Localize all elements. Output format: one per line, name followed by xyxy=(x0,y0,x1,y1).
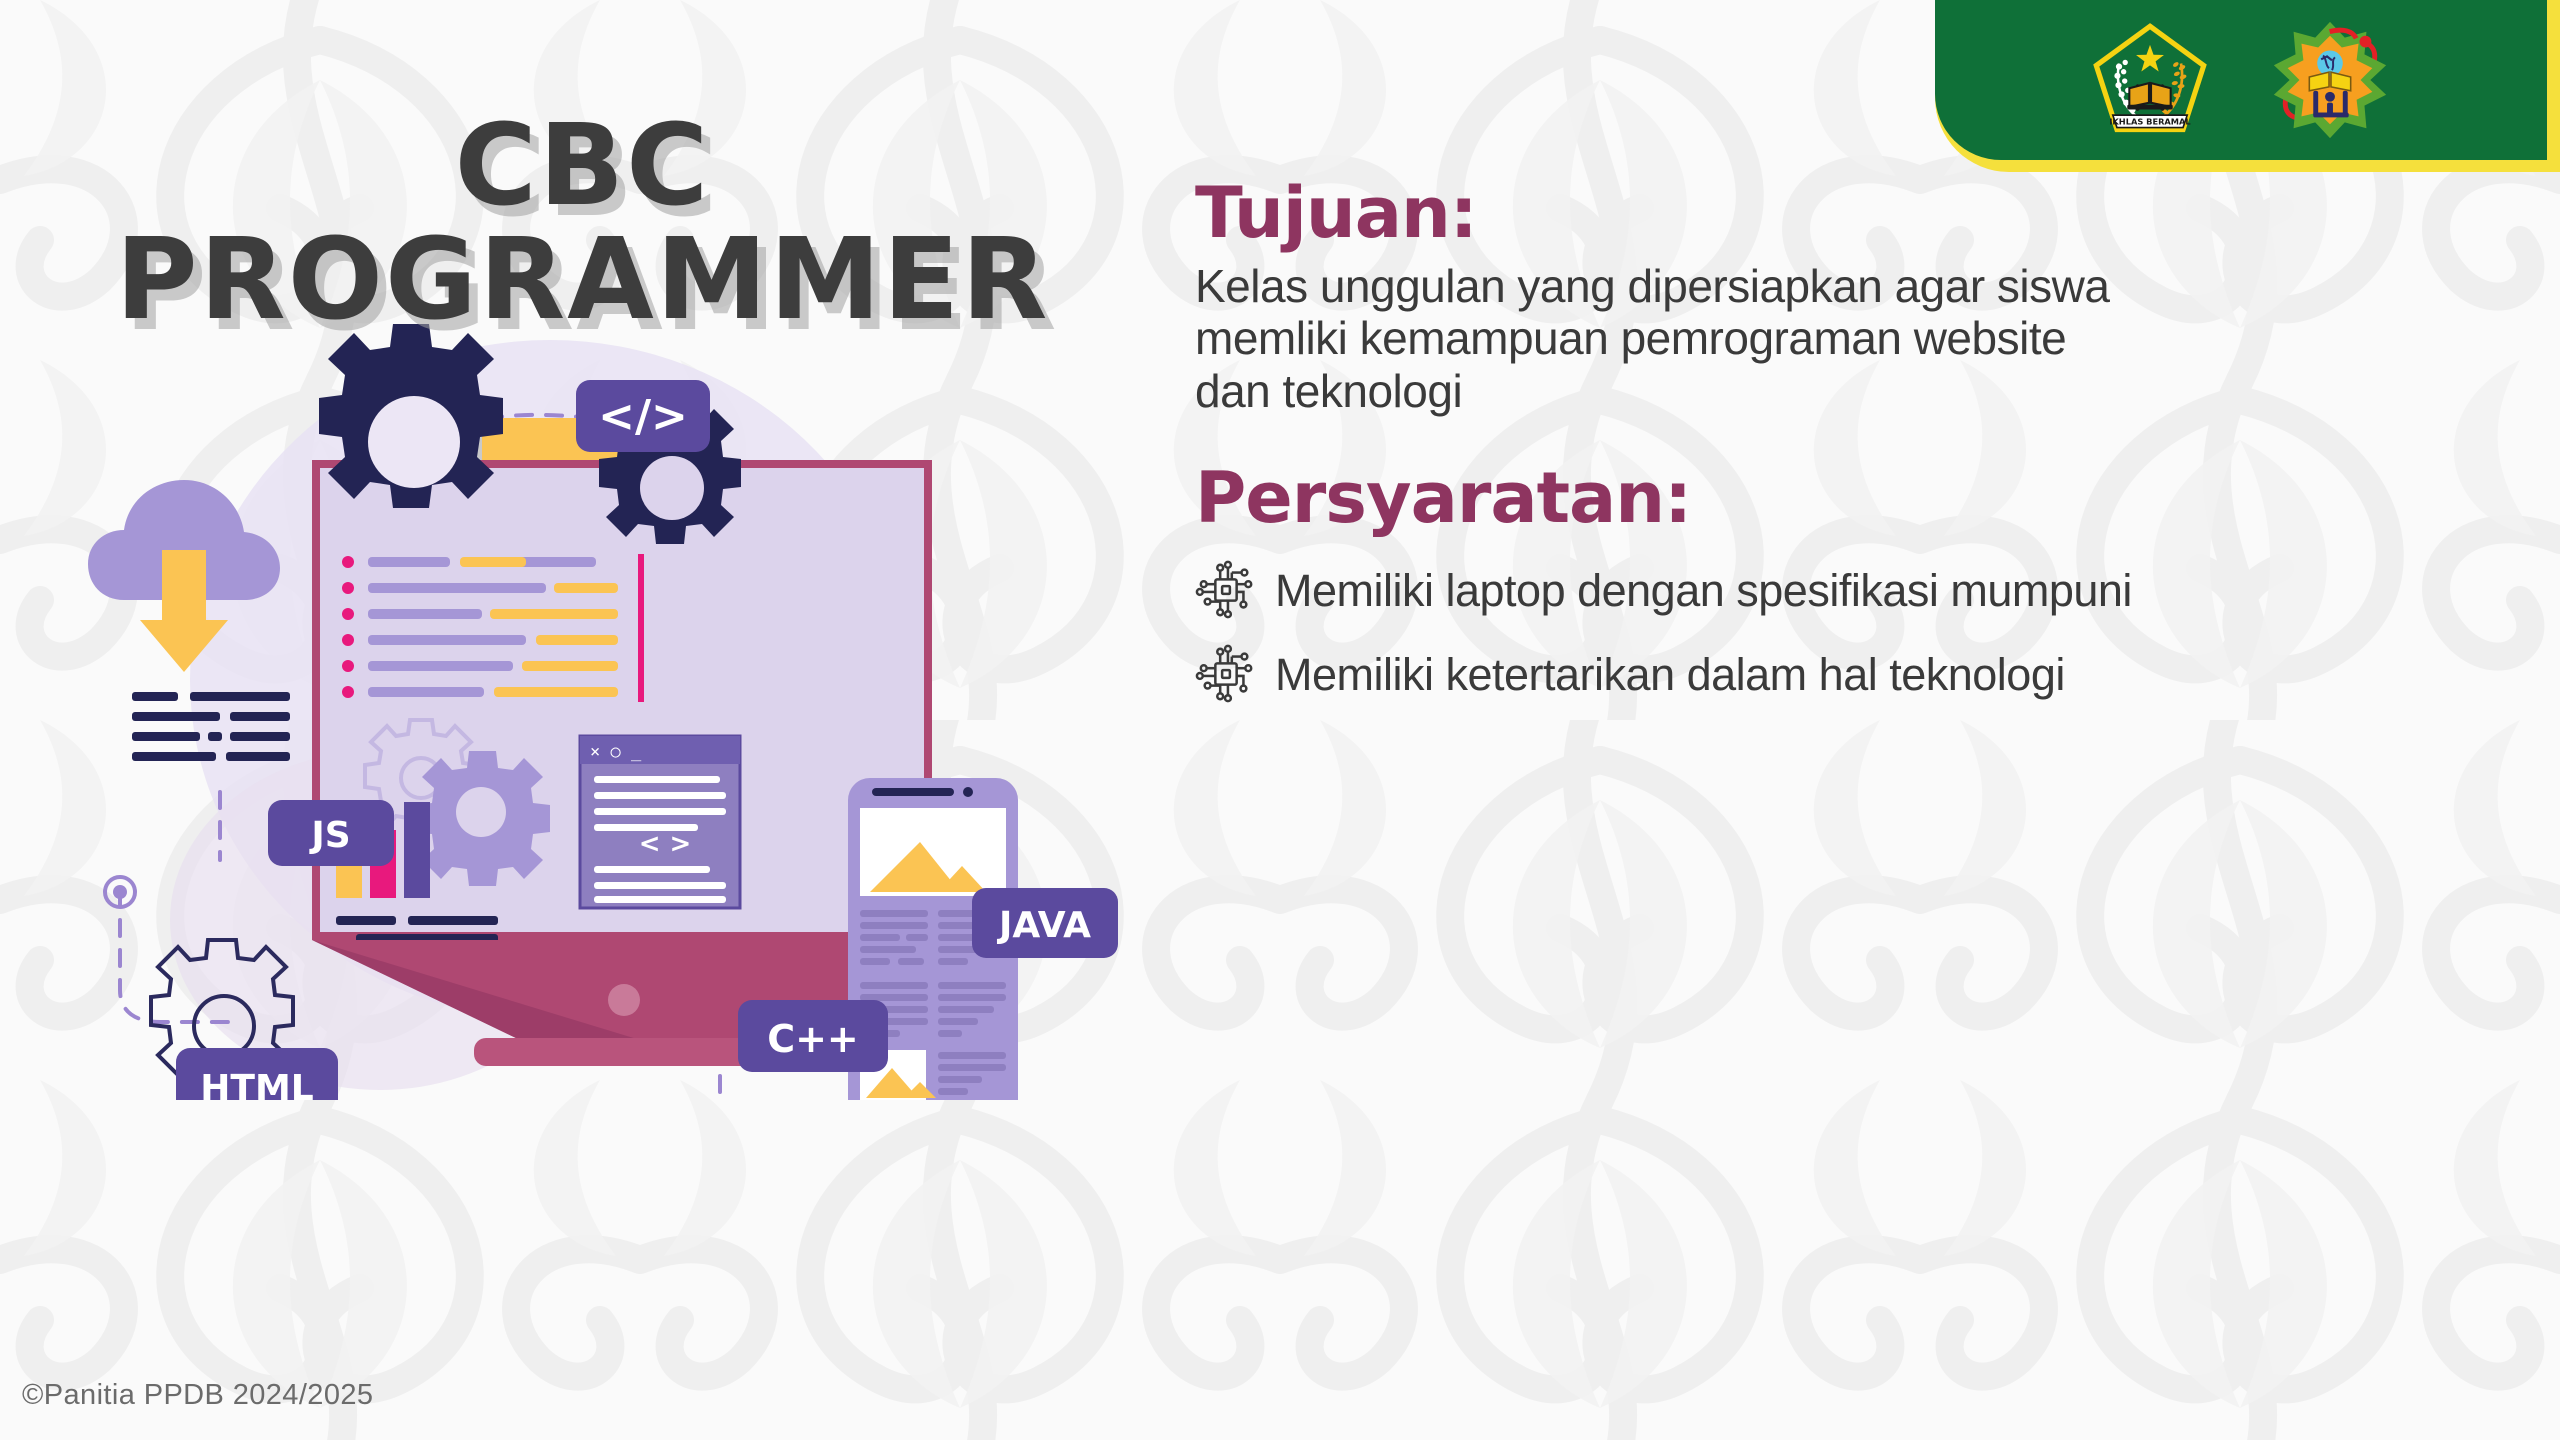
title-line-2: PROGRAMMER xyxy=(0,226,1165,336)
microchip-icon xyxy=(1195,643,1257,705)
requirement-item-1: Memiliki laptop dengan spesifikasi mumpu… xyxy=(1195,559,2535,621)
goal-line-1: Kelas unggulan yang dipersiapkan agar si… xyxy=(1195,260,2535,312)
cpp-badge: C++ xyxy=(738,1000,888,1072)
requirement-text-2: Memiliki ketertarikan dalam hal teknolog… xyxy=(1275,650,2065,700)
goal-line-2: memliki kemampuan pemrograman website xyxy=(1195,312,2535,364)
requirement-item-2: Memiliki ketertarikan dalam hal teknolog… xyxy=(1195,643,2535,705)
footer-credit: ©Panitia PPDB 2024/2025 xyxy=(22,1379,373,1412)
goal-heading: Tujuan: xyxy=(1195,178,2535,248)
kemenag-motto: IKHLAS BERAMAL xyxy=(2109,116,2191,126)
js-badge: JS xyxy=(268,800,394,866)
brand-panel: IKHLAS BERAMAL xyxy=(1935,0,2560,172)
goal-body: Kelas unggulan yang dipersiapkan agar si… xyxy=(1195,260,2535,417)
microchip-icon xyxy=(1195,559,1257,621)
madrasah-logo xyxy=(2266,16,2394,144)
title-line-1: CBC xyxy=(0,112,1165,222)
kemenag-logo: IKHLAS BERAMAL xyxy=(2088,18,2212,142)
requirements-heading: Persyaratan: xyxy=(1195,463,2535,533)
svg-text:JAVA: JAVA xyxy=(996,905,1091,946)
svg-text:HTML: HTML xyxy=(200,1068,313,1100)
svg-text:JS: JS xyxy=(308,815,350,856)
java-badge: JAVA xyxy=(972,888,1118,958)
code-tag-badge: </> xyxy=(576,380,710,452)
svg-text:C++: C++ xyxy=(767,1017,859,1061)
angle-brackets-glyph: < > xyxy=(639,829,692,859)
terminal-controls: × ○ _ xyxy=(590,742,642,762)
goal-line-3: dan teknologi xyxy=(1195,365,2535,417)
terminal-window: × ○ _ < > xyxy=(580,736,740,908)
brand-logos-row: IKHLAS BERAMAL xyxy=(1935,0,2547,160)
content-column: Tujuan: Kelas unggulan yang dipersiapkan… xyxy=(1195,178,2535,727)
requirement-text-1: Memiliki laptop dengan spesifikasi mumpu… xyxy=(1275,566,2132,616)
programming-workstation-illustration: × ○ _ < > xyxy=(80,300,1140,1100)
page-title: CBC PROGRAMMER xyxy=(0,112,1165,336)
svg-text:</>: </> xyxy=(598,391,688,442)
html-badge: HTML xyxy=(176,1048,338,1100)
